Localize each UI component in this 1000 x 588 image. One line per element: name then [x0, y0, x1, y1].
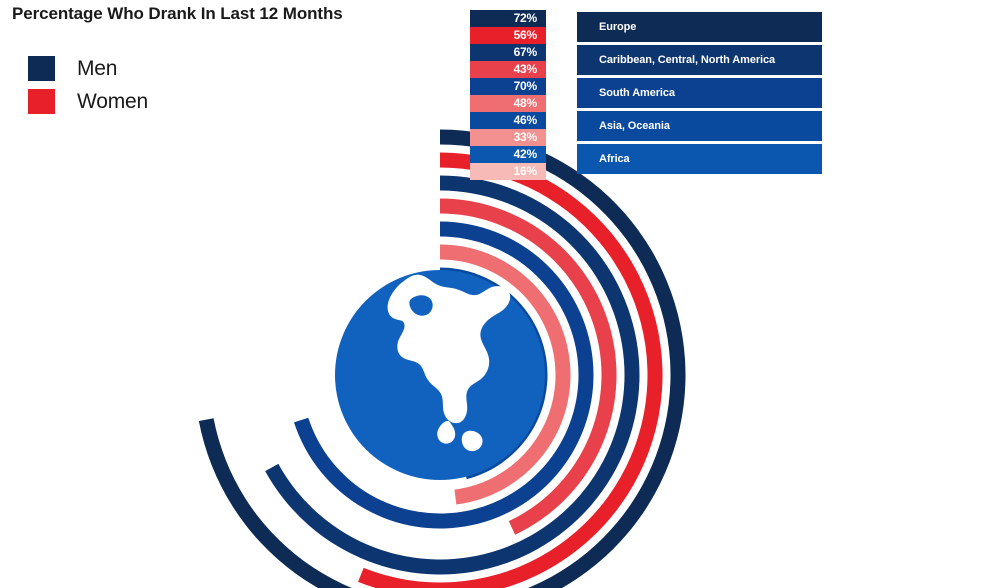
infographic-root: Percentage Who Drank In Last 12 Months M…: [0, 0, 1000, 588]
percentage-chip: 56%: [470, 27, 546, 44]
percentage-chip: 42%: [470, 146, 546, 163]
percentage-chip: 48%: [470, 95, 546, 112]
region-chip: Europe: [577, 12, 822, 42]
percentage-chip: 46%: [470, 112, 546, 129]
percentage-chip: 72%: [470, 10, 546, 27]
percentage-chip: 43%: [470, 61, 546, 78]
region-chip: South America: [577, 78, 822, 108]
percentage-chip-column: 72%56%67%43%70%48%46%33%42%16%: [470, 10, 546, 180]
region-label-column: EuropeCaribbean, Central, North AmericaS…: [577, 12, 822, 177]
globe-graphic: [335, 270, 545, 480]
percentage-chip: 70%: [470, 78, 546, 95]
percentage-chip: 67%: [470, 44, 546, 61]
percentage-chip: 33%: [470, 129, 546, 146]
region-chip: Asia, Oceania: [577, 111, 822, 141]
region-chip: Africa: [577, 144, 822, 174]
percentage-chip: 16%: [470, 163, 546, 180]
region-chip: Caribbean, Central, North America: [577, 45, 822, 75]
